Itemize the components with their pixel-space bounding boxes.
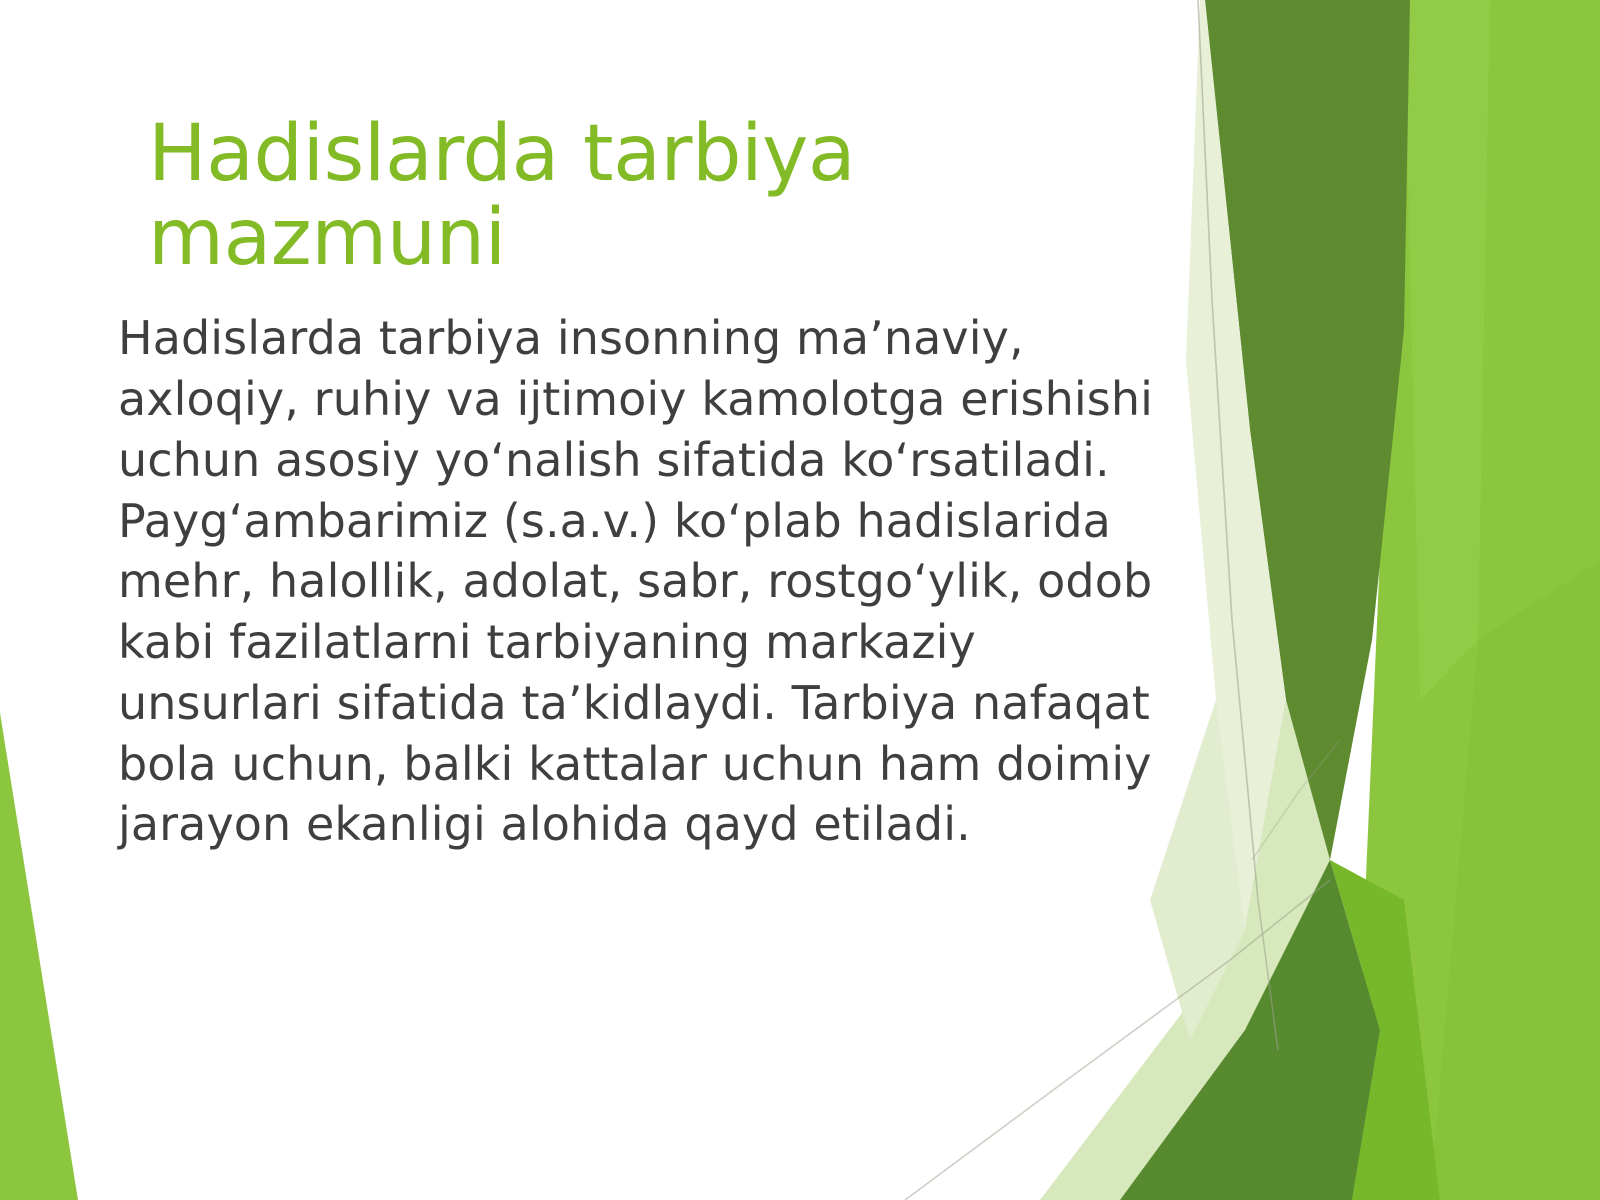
hairline-vertical-right bbox=[1198, 0, 1278, 1050]
dark-olive-diagonal-band bbox=[1205, 0, 1410, 860]
hairline-diagonal-lower bbox=[905, 880, 1330, 1200]
slide-body-text: Hadislarda tarbiya insonning maʼnaviy, a… bbox=[118, 308, 1178, 854]
left-green-wedge bbox=[0, 713, 78, 1200]
page-title: Hadislarda tarbiya mazmuni bbox=[148, 112, 1178, 280]
right-light-facet-lower bbox=[1430, 560, 1600, 1200]
presentation-slide: Hadislarda tarbiya mazmuni Hadislarda ta… bbox=[0, 0, 1600, 1200]
pale-green-edge-sliver bbox=[1186, 0, 1286, 930]
mid-green-bottom-wedge bbox=[1330, 860, 1440, 1200]
right-bright-green-band bbox=[1352, 0, 1600, 1200]
slide-content: Hadislarda tarbiya mazmuni Hadislarda ta… bbox=[118, 112, 1178, 855]
right-light-facet-upper bbox=[1404, 0, 1490, 700]
hairline-upper-right bbox=[1252, 740, 1340, 860]
